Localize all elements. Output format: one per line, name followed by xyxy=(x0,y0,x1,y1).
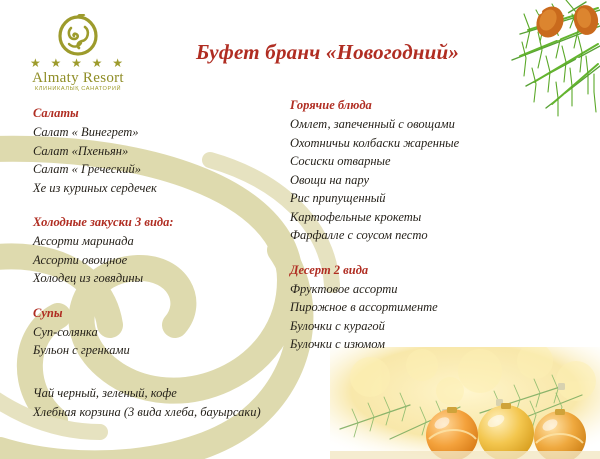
menu-section-cold-appetizers: Холодные закуски 3 вида: Ассорти маринад… xyxy=(33,213,281,288)
menu-item: Салат «Пхеньян» xyxy=(33,142,281,161)
menu-section-beverages-bread: Чай черный, зеленый, кофе Хлебная корзин… xyxy=(33,384,281,422)
menu-item: Булочки с изюмом xyxy=(290,335,570,354)
menu-item: Салат « Греческий» xyxy=(33,160,281,179)
menu-column-right: Горячие блюда Омлет, запеченный с овощам… xyxy=(290,96,570,354)
section-heading: Горячие блюда xyxy=(290,96,570,115)
menu-item: Сосиски отварные xyxy=(290,152,570,171)
menu-item: Овощи на пару xyxy=(290,171,570,190)
menu-section-hot-dishes: Горячие блюда Омлет, запеченный с овощам… xyxy=(290,96,570,245)
logo-name: Almaty Resort xyxy=(18,70,138,86)
menu-item: Булочки с курагой xyxy=(290,317,570,336)
menu-poster: ★ ★ ★ ★ ★ Almaty Resort КЛИНИКАЛЫҚ САНАТ… xyxy=(0,0,600,459)
menu-item: Холодец из говядины xyxy=(33,269,281,288)
menu-section-salads: Салаты Салат « Винегрет» Салат «Пхеньян»… xyxy=(33,104,281,197)
menu-section-desserts: Десерт 2 вида Фруктовое ассорти Пирожное… xyxy=(290,261,570,354)
menu-item: Хе из куриных сердечек xyxy=(33,179,281,198)
menu-item: Рис припущенный xyxy=(290,189,570,208)
menu-item: Ассорти маринада xyxy=(33,232,281,251)
menu-item: Картофельные крокеты xyxy=(290,208,570,227)
logo-stars: ★ ★ ★ ★ ★ xyxy=(18,57,138,69)
menu-section-soups: Супы Суп-солянка Бульон с гренками xyxy=(33,304,281,360)
menu-column-left: Салаты Салат « Винегрет» Салат «Пхеньян»… xyxy=(33,104,281,422)
menu-item: Суп-солянка xyxy=(33,323,281,342)
section-heading: Холодные закуски 3 вида: xyxy=(33,213,281,232)
section-heading: Десерт 2 вида xyxy=(290,261,570,280)
christmas-baubles-decoration xyxy=(330,347,600,459)
brand-logo: ★ ★ ★ ★ ★ Almaty Resort КЛИНИКАЛЫҚ САНАТ… xyxy=(18,14,138,93)
menu-item: Салат « Винегрет» xyxy=(33,123,281,142)
menu-item: Хлебная корзина (3 вида хлеба, бауырсаки… xyxy=(33,403,281,422)
section-heading: Супы xyxy=(33,304,281,323)
section-heading: Салаты xyxy=(33,104,281,123)
page-title: Буфет бранч «Новогодний» xyxy=(196,40,459,65)
menu-item: Фарфалле с соусом песто xyxy=(290,226,570,245)
logo-subtitle: КЛИНИКАЛЫҚ САНАТОРИЙ xyxy=(17,86,139,93)
menu-item: Фруктовое ассорти xyxy=(290,280,570,299)
almaty-resort-emblem-icon xyxy=(55,14,101,56)
menu-item: Бульон с гренками xyxy=(33,341,281,360)
menu-item: Чай черный, зеленый, кофе xyxy=(33,384,281,403)
menu-item: Охотничьи колбаски жаренные xyxy=(290,134,570,153)
menu-item: Пирожное в ассортименте xyxy=(290,298,570,317)
menu-item: Ассорти овощное xyxy=(33,251,281,270)
menu-item: Омлет, запеченный с овощами xyxy=(290,115,570,134)
